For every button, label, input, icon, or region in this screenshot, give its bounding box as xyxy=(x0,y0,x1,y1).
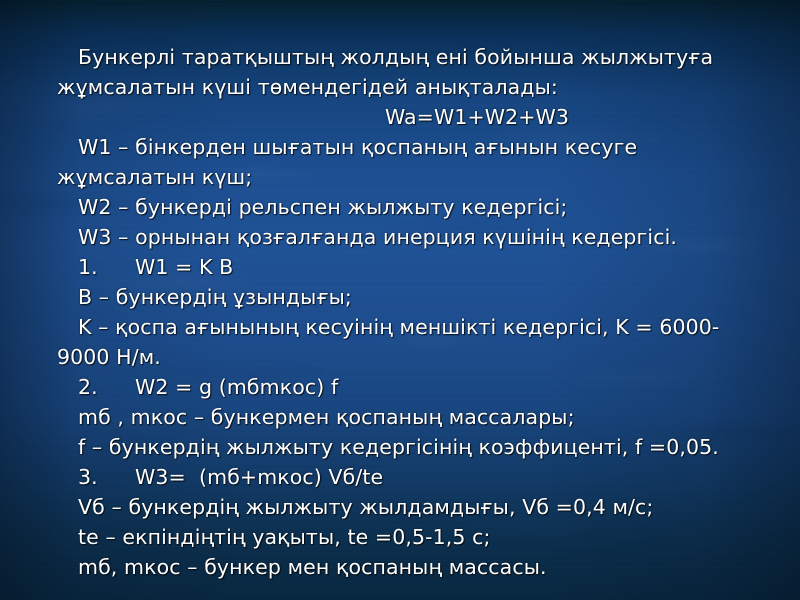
def-w2: W2 – бункерді рельспен жылжыту кедергісі… xyxy=(57,192,747,222)
item-3-text: W3= (mб+mкос) Vб/te xyxy=(135,465,383,489)
def-masses: mб , mкос – бункермен қоспаның массалары… xyxy=(57,402,747,432)
item-1-number: 1. xyxy=(78,252,135,282)
formula-wa: Wa=W1+W2+W3 xyxy=(57,102,747,132)
def-f: f – бункердің жылжыту кедергісінің коэфф… xyxy=(57,432,747,462)
def-vb: Vб – бункердің жылжыту жылдамдығы, Vб =0… xyxy=(57,492,747,522)
def-mb-mkos: mб, mкос – бункер мен қоспаның массасы. xyxy=(57,552,747,582)
item-3: 3.W3= (mб+mкос) Vб/te xyxy=(57,462,747,492)
presentation-slide: Бункерлі таратқыштың жолдың ені бойынша … xyxy=(0,0,800,600)
item-1-text: W1 = K B xyxy=(135,255,233,279)
def-w1: W1 – бінкерден шығатын қоспаның ағынын к… xyxy=(57,132,747,192)
def-w3: W3 – орнынан қозғалғанда инерция күшінің… xyxy=(57,222,747,252)
item-1: 1.W1 = K B xyxy=(57,252,747,282)
def-k: K – қоспа ағынының кесуінің меншікті кед… xyxy=(57,312,747,372)
item-3-number: 3. xyxy=(78,462,135,492)
intro-line-1: Бункерлі таратқыштың жолдың ені бойынша … xyxy=(57,42,747,102)
def-te: te – екпіндіңтің уақыты, te =0,5-1,5 с; xyxy=(57,522,747,552)
item-2-text: W2 = g (mбmкос) f xyxy=(135,375,338,399)
item-2-number: 2. xyxy=(78,372,135,402)
slide-body-text: Бункерлі таратқыштың жолдың ені бойынша … xyxy=(57,42,747,582)
item-2: 2.W2 = g (mбmкос) f xyxy=(57,372,747,402)
def-b: B – бункердің ұзындығы; xyxy=(57,282,747,312)
